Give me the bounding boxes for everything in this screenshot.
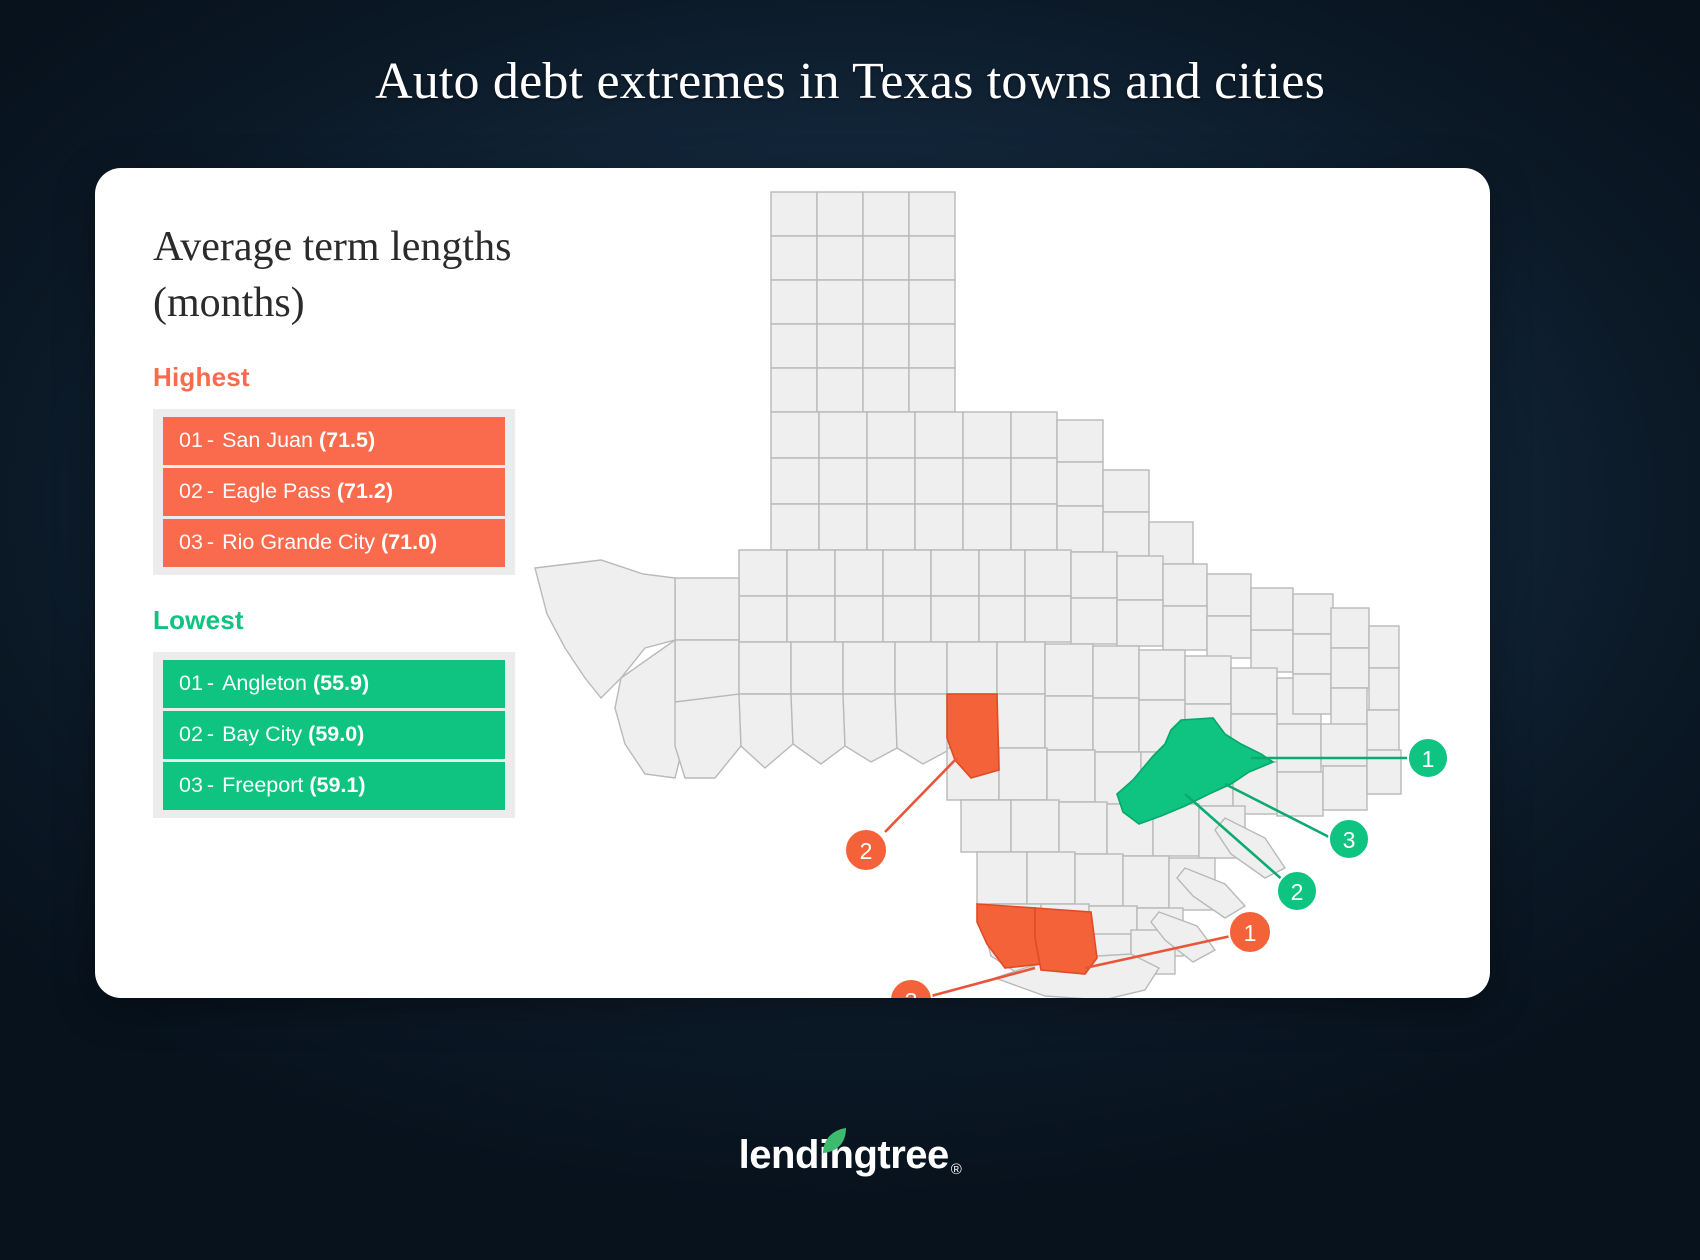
city-name: Bay City [222, 722, 302, 747]
list-item[interactable]: 03 - Rio Grande City (71.0) [163, 519, 505, 567]
registered-mark: ® [951, 1161, 962, 1178]
city-value: (59.0) [308, 722, 364, 747]
marker-lowest-2: 2 [1277, 871, 1317, 911]
city-value: (71.2) [337, 479, 393, 504]
marker-highest-1: 1 [1229, 911, 1271, 953]
city-value: (71.5) [319, 428, 375, 453]
city-value: (55.9) [313, 671, 369, 696]
infographic-page: Auto debt extremes in Texas towns and ci… [0, 0, 1700, 1260]
rank-number: 01 [179, 428, 203, 453]
texas-county-map: 1 3 2 2 [525, 178, 1475, 998]
marker-label: 1 [1422, 746, 1435, 772]
rank-dash: - [207, 479, 214, 504]
city-name: Freeport [222, 773, 303, 798]
marker-highest-3: 3 [890, 979, 932, 998]
list-item[interactable]: 02 - Eagle Pass (71.2) [163, 468, 505, 516]
legend-panel: Average term lengths (months) Highest 01… [153, 220, 583, 818]
county-shapes [535, 192, 1401, 998]
highlight-county-rio-grande-city [977, 904, 1041, 968]
page-title: Auto debt extremes in Texas towns and ci… [0, 52, 1700, 111]
list-item[interactable]: 03 - Freeport (59.1) [163, 762, 505, 810]
marker-lowest-1: 1 [1408, 738, 1448, 778]
panel-heading-line1: Average term lengths [153, 220, 583, 276]
content-card: Average term lengths (months) Highest 01… [95, 168, 1490, 998]
city-name: San Juan [222, 428, 313, 453]
city-value: (59.1) [309, 773, 365, 798]
list-item[interactable]: 01 - San Juan (71.5) [163, 417, 505, 465]
city-name: Angleton [222, 671, 307, 696]
leader-line-highest-2 [885, 758, 957, 832]
lowest-label: Lowest [153, 605, 583, 636]
rank-dash: - [207, 722, 214, 747]
marker-label: 2 [860, 838, 873, 864]
marker-label: 1 [1244, 920, 1257, 946]
marker-label: 2 [1291, 879, 1304, 905]
rank-number: 01 [179, 671, 203, 696]
marker-highest-2: 2 [845, 829, 887, 871]
city-value: (71.0) [381, 530, 437, 555]
lowest-group: Lowest 01 - Angleton (55.9) 02 - Bay Cit… [153, 605, 583, 818]
highest-group: Highest 01 - San Juan (71.5) 02 - Eagle … [153, 362, 583, 575]
list-item[interactable]: 01 - Angleton (55.9) [163, 660, 505, 708]
rank-number: 02 [179, 479, 203, 504]
lowest-list: 01 - Angleton (55.9) 02 - Bay City (59.0… [153, 652, 515, 818]
highest-label: Highest [153, 362, 583, 393]
rank-number: 03 [179, 530, 203, 555]
rank-number: 03 [179, 773, 203, 798]
highest-list: 01 - San Juan (71.5) 02 - Eagle Pass (71… [153, 409, 515, 575]
rank-dash: - [207, 773, 214, 798]
marker-lowest-3: 3 [1329, 819, 1369, 859]
marker-label: 3 [1343, 827, 1356, 853]
marker-label: 3 [905, 988, 918, 998]
city-name: Rio Grande City [222, 530, 375, 555]
list-item[interactable]: 02 - Bay City (59.0) [163, 711, 505, 759]
panel-heading: Average term lengths (months) [153, 220, 583, 332]
rank-number: 02 [179, 722, 203, 747]
lendingtree-logo: lendingtree ® [0, 1133, 1700, 1178]
city-name: Eagle Pass [222, 479, 331, 504]
highlight-county-san-juan [1035, 908, 1097, 974]
rank-dash: - [207, 428, 214, 453]
rank-dash: - [207, 530, 214, 555]
panel-heading-line2: (months) [153, 276, 583, 332]
rank-dash: - [207, 671, 214, 696]
